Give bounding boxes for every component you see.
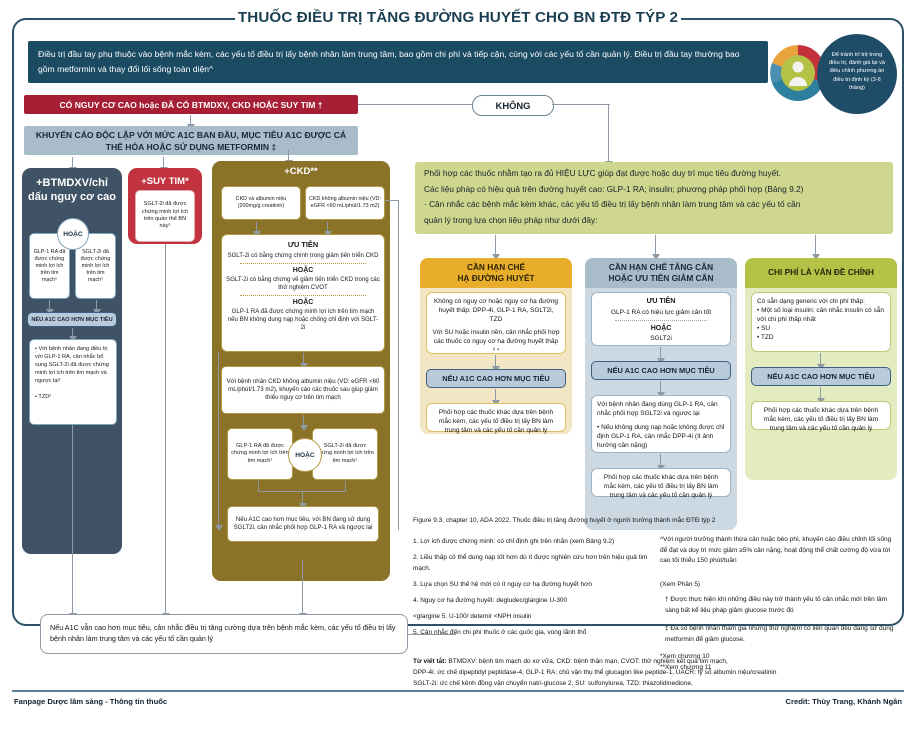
footer-fanpage: Fanpage Dược lâm sàng - Thông tin thuốc <box>14 697 167 706</box>
ckd-priority-2: SGLT-2i có bằng chứng về giảm tiến triển… <box>226 276 380 292</box>
hypo-body-1: Không có nguy cơ hoặc nguy cơ hạ đường h… <box>432 297 560 324</box>
footer-credit: Credit: Thùy Trang, Khánh Ngân <box>786 697 902 706</box>
hf-title: +SUY TIM* <box>128 168 202 189</box>
panel-weight-pill: NẾU A1C CAO HƠN MỤC TIÊU <box>591 361 731 380</box>
hf-card: SGLT-2i đã được chứng minh lợi ích trên … <box>135 190 195 242</box>
panel-cost-tail: Phối hợp các thuốc khác dựa trên bệnh mắ… <box>751 401 891 430</box>
arrow-risk-to-recommend <box>190 115 191 125</box>
ckd-priority-1: SGLT-2i có bằng chứng chính trong giảm t… <box>226 252 380 260</box>
panel-weight-tail: Phối hợp các thuốc khác dựa trên bệnh mắ… <box>591 468 731 497</box>
cycle-note: Để tránh trì trệ trong điều trị, đánh gi… <box>817 34 897 114</box>
footnote-source: Figure 9.3, chapter 10, ADA 2022. Thuốc … <box>413 516 903 527</box>
khong-node: KHÔNG <box>472 95 554 116</box>
panel-hypoglycemia-header: CẦN HẠN CHẾ HẠ ĐƯỜNG HUYẾT <box>420 258 572 288</box>
panel-weight-header: CẦN HẠN CHẾ TĂNG CÂN HOẶC ƯU TIÊN GIẢM C… <box>585 258 737 288</box>
weight-body-2: SGLT2i <box>597 334 725 343</box>
abbrev-line-1: Từ viết tắt: BTMDXV: bệnh tim mạch do xơ… <box>413 657 903 668</box>
arrow-to-ckd <box>288 150 289 161</box>
right-intro-banner: Phối hợp các thuốc nhằm tạo ra đủ HIỆU L… <box>415 162 893 234</box>
footnote-left-2: 2. Liều thấp có thể dung nạp tốt hơn dù … <box>413 553 648 574</box>
arrow-ascvd-summary <box>72 592 73 614</box>
arrow-to-cost-panel <box>815 235 816 255</box>
intro-line-2: Các liệu pháp có hiệu quả trên đường huy… <box>424 182 884 198</box>
abbrev-line-3: SGLT-2i: ức chế kênh đồng vận chuyển nat… <box>413 679 903 690</box>
footer-divider <box>12 690 904 692</box>
ascvd-a1c-pill: NẾU A1C CAO HƠN MỤC TIÊU <box>27 312 117 327</box>
panel-cost-body: Có sẵn dạng generic với chi phí thấp: • … <box>751 292 891 352</box>
arrow-weight-tail <box>660 454 661 466</box>
arrow-to-weight-panel <box>655 235 656 255</box>
intro-line-3: · Cân nhắc các bệnh mắc kèm khác, các yế… <box>424 197 884 213</box>
arrow-ckd-left-rail <box>218 512 219 526</box>
recommendation-header: KHUYẾN CÁO ĐỘC LẬP VỚI MỨC A1C BAN ĐẦU, … <box>24 126 358 155</box>
arrow-ckd-right <box>327 222 328 232</box>
arrow-ascvd-bullets <box>72 328 73 337</box>
footnote-left-5: <glargine 5. U-100/ detemir <NPH insulin <box>413 612 648 623</box>
ckd-right-rail-top <box>385 200 399 201</box>
infographic-page: THUỐC ĐIỀU TRỊ TĂNG ĐƯỜNG HUYẾT CHO BN Đ… <box>0 0 916 733</box>
ascvd-or-chip: HOẶC <box>57 218 89 250</box>
arrow-ascvd-b <box>96 300 97 310</box>
footnote-right-4: ‡ Đa số bệnh nhân tham gia những thử ngh… <box>665 624 900 645</box>
panel-hypoglycemia-body: Không có nguy cơ hoặc nguy cơ hạ đường h… <box>426 292 566 354</box>
weight-mid-1: Với bệnh nhân đang dùng GLP-1 RA, cân nh… <box>597 400 725 418</box>
ckd-non-albuminuria-box: CKD không albumin niệu (VD: eGFR <60 mL/… <box>305 186 385 220</box>
ckd-priority-title: ƯU TIÊN <box>226 240 380 249</box>
ckd-left-rail <box>218 352 219 530</box>
page-title: THUỐC ĐIỀU TRỊ TĂNG ĐƯỜNG HUYẾT CHO BN Đ… <box>235 9 681 26</box>
hf-tail-line <box>165 244 166 614</box>
arrow-ckd-options <box>303 415 304 426</box>
footnote-right-2: (Xem Phần 5) <box>660 580 900 591</box>
footnote-left-1: 1. Lợi ích được chứng minh: có chỉ định … <box>413 537 648 548</box>
risk-header: CÓ NGUY CƠ CAO hoặc ĐÃ CÓ BTMDXV, CKD HO… <box>24 95 358 114</box>
connector-red-to-khong <box>358 104 472 105</box>
weight-mid-2: • Nếu không dung nạp hoặc không được chỉ… <box>597 423 725 450</box>
intro-line-1: Phối hợp các thuốc nhằm tạo ra đủ HIỆU L… <box>424 166 884 182</box>
weight-or: HOẶC <box>597 324 725 333</box>
arrow-weight-pill <box>660 347 661 359</box>
ckd-or-1: HOẶC <box>226 267 380 274</box>
hypo-body-2: Với SU hoặc insulin nền, cân nhắc phối h… <box>432 328 560 355</box>
footnote-left-3: 3. Lựa chọn SU thế hệ mới có ít nguy cơ … <box>413 580 648 591</box>
arrow-ckd-tail <box>302 492 303 504</box>
ckd-priority-card: ƯU TIÊN SGLT-2i có bằng chứng chính tron… <box>221 234 385 352</box>
weight-body-1: GLP-1 RA có hiệu lực giảm cân tốt <box>597 308 725 317</box>
ckd-or-chip: HOẶC <box>288 438 322 472</box>
panel-cost-header: CHI PHÍ LÀ VẤN ĐỀ CHÍNH <box>745 258 897 288</box>
arrow-to-right-panel <box>608 140 609 162</box>
arrow-ckd-summary <box>302 560 303 614</box>
ckd-nonalbuminuria-note: Với bệnh nhân CKD không albumin niệu (VD… <box>221 366 385 414</box>
panel-weight-body: ƯU TIÊN GLP-1 RA có hiệu lực giảm cân tố… <box>591 292 731 346</box>
ckd-tail-card: Nếu A1C cao hơn mục tiêu, với BN đang sử… <box>227 506 379 542</box>
ascvd-tail-line <box>72 425 73 615</box>
ckd-title: +CKD** <box>212 161 390 179</box>
footnote-left-4: 4. Nguy cơ hạ đường huyết: degludec/glar… <box>413 596 648 607</box>
ascvd-title: +BTMDXV/chỉ dấu nguy cơ cao <box>22 168 122 204</box>
arrow-cost-pill <box>820 353 821 365</box>
ckd-priority-3: GLP-1 RA đã được chứng minh lợi ích trên… <box>226 308 380 332</box>
ckd-right-rail <box>398 200 399 530</box>
connector-khong-right <box>552 104 610 105</box>
weight-priority-label: ƯU TIÊN <box>597 297 725 306</box>
arrow-ckd-left <box>256 222 257 232</box>
footnote-right-3: † Được thực hiện khi những điều này trở … <box>665 595 900 616</box>
panel-weight-mid: Với bệnh nhân đang dùng GLP-1 RA, cân nh… <box>591 395 731 453</box>
arrow-hypo-tail <box>495 389 496 401</box>
arrow-to-ascvd <box>72 157 73 168</box>
intro-line-4: quản lý trong lựa chọn liệu pháp như dướ… <box>424 213 884 229</box>
ckd-option-glp1: GLP-1 RA đã được chứng minh lợi ích trên… <box>227 428 293 480</box>
arrow-cost-tail <box>820 387 821 399</box>
arrow-ascvd-a <box>49 300 50 310</box>
arrow-ckd-nonalb <box>303 353 304 364</box>
footnote-left-6: 5. Cân nhắc đến chi phí thuốc ở các quốc… <box>413 628 648 639</box>
panel-cost-pill: NẾU A1C CAO HƠN MỤC TIÊU <box>751 367 891 386</box>
arrow-to-hypo-panel <box>495 235 496 255</box>
panel-hypoglycemia-tail: Phối hợp các thuốc khác dựa trên bệnh mắ… <box>426 403 566 432</box>
ascvd-bullets: • Với bệnh nhân đang điều trị với GLP-1 … <box>29 339 117 425</box>
arrow-to-hf <box>163 157 164 168</box>
abbrev-text-1: BTMDXV: bệnh tim mạch do xơ vữa, CKD: bệ… <box>448 658 727 665</box>
ckd-or-2: HOẶC <box>226 299 380 306</box>
arrow-hf-summary <box>165 592 166 614</box>
abbrev-label: Từ viết tắt: <box>413 658 447 665</box>
intro-banner: Điều trị đầu tay phụ thuộc vào bệnh mắc … <box>28 41 768 83</box>
abbrev-line-2: DPP-4i: ức chế dipeptidyl peptidase-4, G… <box>413 668 903 679</box>
panel-hypoglycemia-pill: NẾU A1C CAO HƠN MỤC TIÊU <box>426 369 566 388</box>
summary-box: Nếu A1C vẫn cao hơn mục tiêu, cân nhắc đ… <box>40 614 408 654</box>
arrow-hypo-pill <box>495 355 496 367</box>
ckd-albuminuria-box: CKD và albumin niệu (200mg/g creatinin) <box>221 186 301 220</box>
arrow-weight-mid <box>660 381 661 393</box>
footnote-right-1: ^Với người trưởng thành thừa cân hoặc bé… <box>660 535 900 567</box>
